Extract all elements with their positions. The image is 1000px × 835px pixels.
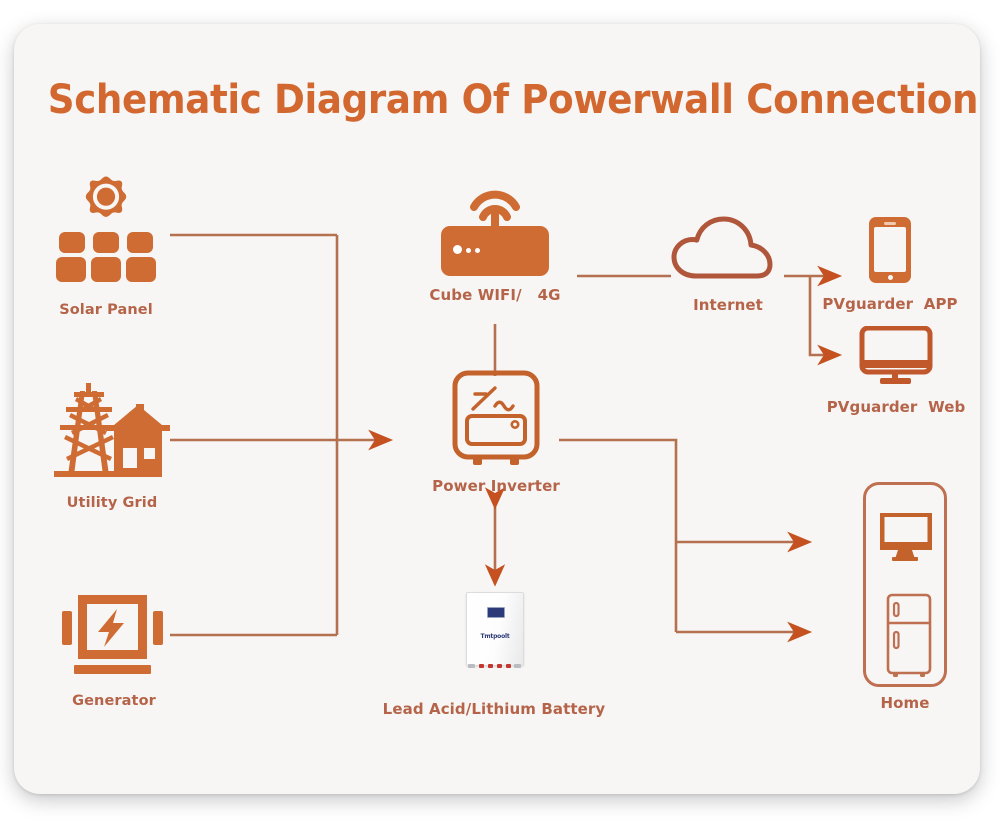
phone-speaker-icon (884, 222, 896, 225)
home-appliances-icon (863, 482, 947, 687)
power-inverter-icon (451, 369, 541, 469)
home-label: Home (835, 694, 975, 712)
battery-label: Lead Acid/Lithium Battery (368, 700, 620, 718)
node-utility-grid[interactable]: Utility Grid (52, 379, 172, 484)
solar-panel-label: Solar Panel (42, 302, 170, 318)
power-inverter-label: Power Inverter (403, 477, 589, 495)
node-generator[interactable]: Generator (60, 589, 168, 679)
pvguarder-web-label: PVguarder Web (801, 398, 980, 416)
battery-display (487, 607, 505, 618)
generator-icon (60, 589, 168, 679)
page-title: Schematic Diagram Of Powerwall Connectio… (48, 77, 946, 123)
node-power-inverter[interactable]: Power Inverter (451, 369, 541, 469)
node-pvguarder-web[interactable]: PVguarder Web (859, 326, 933, 388)
phone-screen (874, 227, 906, 272)
smartphone-icon (869, 217, 911, 283)
diagram-card: Schematic Diagram Of Powerwall Connectio… (14, 24, 980, 794)
wall-battery-icon: Tmtpoolt (466, 592, 524, 666)
battery-brand-logo: Tmtpoolt (480, 633, 510, 640)
battery-connectors (466, 664, 522, 669)
node-cube-wifi[interactable]: Cube WIFI/ 4G (441, 192, 549, 282)
phone-home-button-icon (888, 275, 893, 280)
node-home[interactable]: Home (863, 482, 947, 687)
generator-label: Generator (46, 693, 182, 709)
node-internet[interactable]: Internet (669, 214, 787, 294)
utility-grid-label: Utility Grid (40, 495, 184, 511)
diagram-stage: Schematic Diagram Of Powerwall Connectio… (0, 0, 1000, 835)
node-battery[interactable]: Tmtpoolt Lead Acid/Lithium Battery (466, 592, 522, 672)
router-body-icon (441, 226, 549, 276)
cloud-icon (669, 214, 787, 284)
node-pvguarder-app[interactable]: PVguarder APP (869, 217, 911, 283)
utility-grid-icon (52, 379, 172, 484)
solar-cells-icon (56, 232, 156, 286)
pvguarder-app-label: PVguarder APP (799, 295, 980, 313)
internet-label: Internet (663, 296, 793, 314)
monitor-icon (859, 326, 933, 388)
node-solar-panel[interactable]: Solar Panel (56, 174, 166, 294)
sun-icon (78, 174, 134, 230)
cube-wifi-label: Cube WIFI/ 4G (405, 286, 585, 304)
